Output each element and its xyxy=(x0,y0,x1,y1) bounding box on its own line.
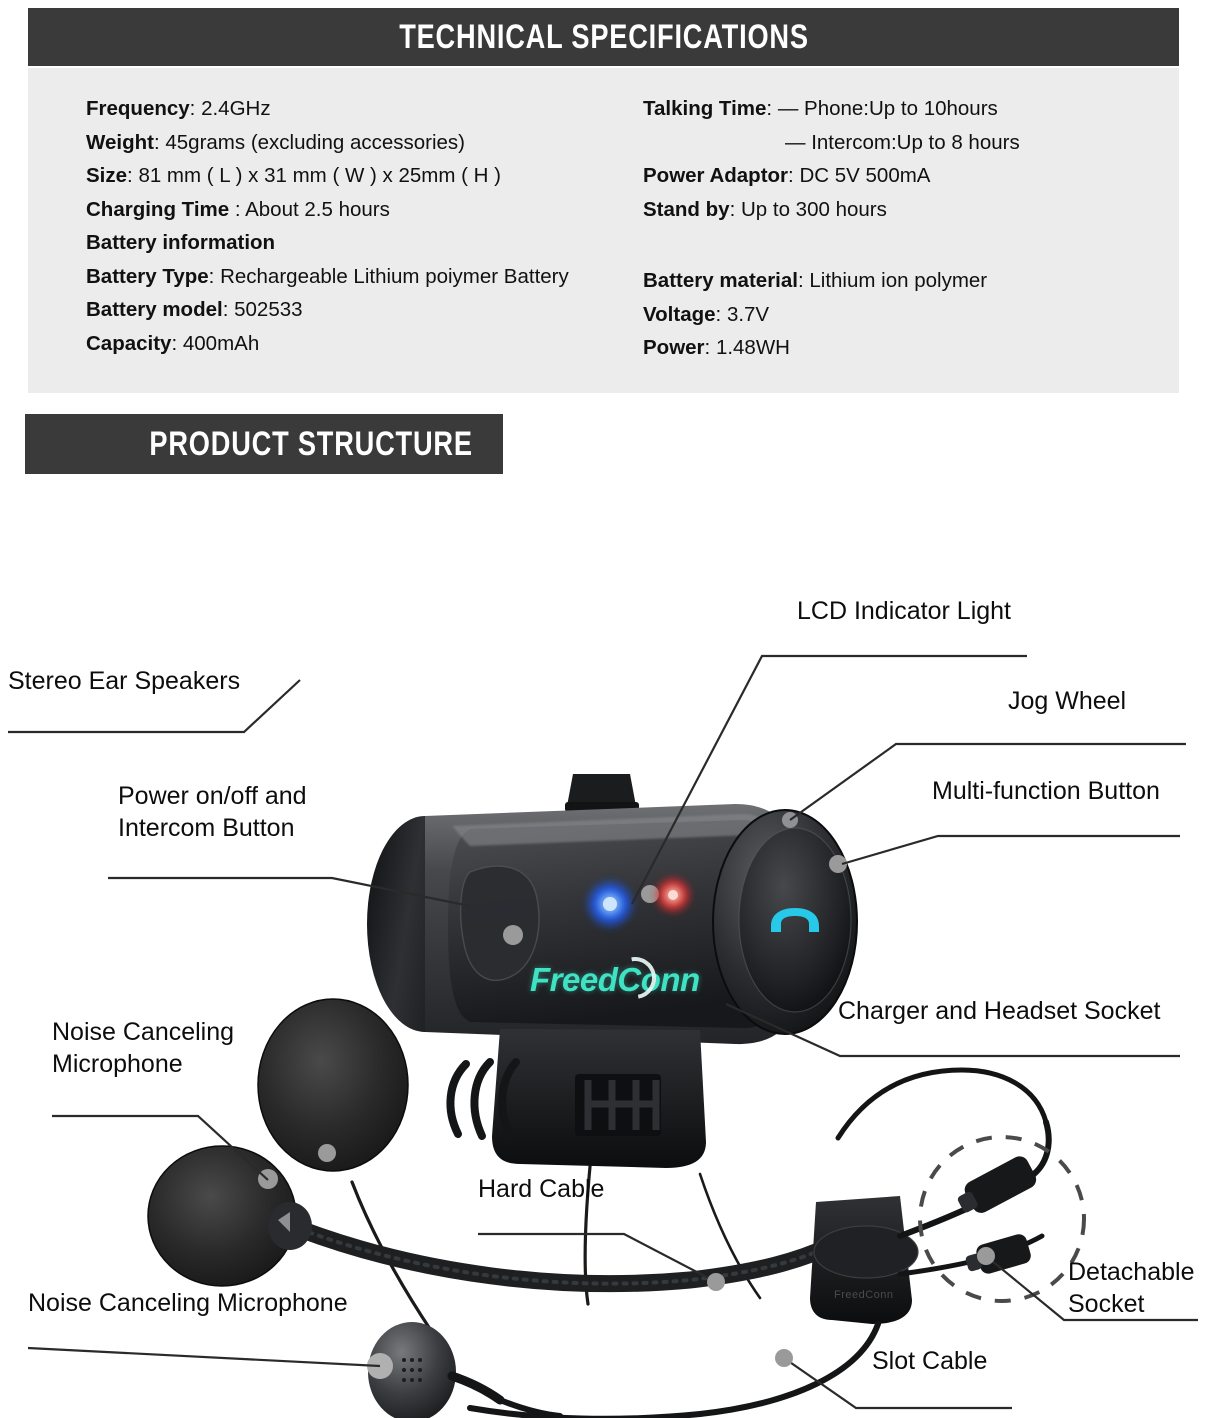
slot-cable xyxy=(470,1324,878,1418)
spec-row: Stand by: Up to 300 hours xyxy=(643,193,1163,227)
spec-row: Capacity: 400mAh xyxy=(86,327,646,361)
spec-row: Voltage: 3.7V xyxy=(643,298,1163,332)
callout-text: Stereo Ear Speakers xyxy=(8,667,240,695)
spec-key: Battery material xyxy=(643,269,798,292)
spec-spacer xyxy=(643,245,1163,264)
spec-key: Weight xyxy=(86,131,154,154)
spec-row: Charging Time : About 2.5 hours xyxy=(86,193,646,227)
spec-sep: : xyxy=(730,198,741,221)
spec-row-continuation: — Intercom:Up to 8 hours xyxy=(643,126,1163,160)
spec-key: Power xyxy=(643,336,705,359)
spec-key: Stand by xyxy=(643,198,730,221)
spec-key: Battery model xyxy=(86,298,223,321)
specifications-panel: Frequency: 2.4GHz Weight: 45grams (exclu… xyxy=(28,68,1179,393)
spec-value: Up to 300 hours xyxy=(741,198,887,221)
callout-noise-canceling-microphone-2: Noise Canceling Microphone xyxy=(28,1288,348,1319)
spec-sep: : xyxy=(716,303,727,326)
spec-value: 400mAh xyxy=(183,332,259,355)
spec-key: Charging Time xyxy=(86,198,229,221)
spec-sep: : xyxy=(229,198,245,221)
spec-row: Weight: 45grams (excluding accessories) xyxy=(86,126,646,160)
callout-text: Jog Wheel xyxy=(1008,687,1126,715)
jog-wheel xyxy=(713,810,857,1034)
specs-left-column: Frequency: 2.4GHz Weight: 45grams (exclu… xyxy=(86,92,646,360)
spec-sep: : xyxy=(223,298,234,321)
callout-text: Charger and Headset Socket xyxy=(838,997,1160,1025)
spec-key: Battery information xyxy=(86,231,275,254)
spec-row: Battery material: Lithium ion polymer xyxy=(643,264,1163,298)
callout-detachable-socket: Detachable Socket xyxy=(1068,1256,1194,1320)
spec-row: Size: 81 mm ( L ) x 31 mm ( W ) x 25mm (… xyxy=(86,159,646,193)
callout-multi-function-button: Multi-function Button xyxy=(932,776,1160,807)
spec-value: DC 5V 500mA xyxy=(799,164,930,187)
spec-key: Power Adaptor xyxy=(643,164,788,187)
spec-row: Power Adaptor: DC 5V 500mA xyxy=(643,159,1163,193)
callout-text: LCD Indicator Light xyxy=(797,597,1011,625)
spec-value: Rechargeable Lithium poiymer Battery xyxy=(220,265,569,288)
spec-row: Power: 1.48WH xyxy=(643,331,1163,365)
spec-row: Battery Type: Rechargeable Lithium poiym… xyxy=(86,260,646,294)
spec-key: Size xyxy=(86,164,127,187)
spec-value: 81 mm ( L ) x 31 mm ( W ) x 25mm ( H ) xyxy=(138,164,501,187)
spec-sep: : xyxy=(788,164,799,187)
spec-value: — Phone:Up to 10hours xyxy=(778,97,998,120)
spec-value: 2.4GHz xyxy=(201,97,271,120)
ear-speaker-left xyxy=(258,999,408,1171)
spec-sep: : xyxy=(209,265,220,288)
spec-value: 3.7V xyxy=(727,303,769,326)
product-structure-title: PRODUCT STRUCTURE xyxy=(149,425,472,464)
microphone-assembly xyxy=(148,1146,830,1286)
callout-text-line1: Detachable xyxy=(1068,1258,1194,1286)
callout-jog-wheel: Jog Wheel xyxy=(1008,686,1126,717)
spec-sep: : xyxy=(154,131,165,154)
detachable-connectors xyxy=(953,1153,1040,1279)
leader-multi-function-button xyxy=(842,836,1180,864)
callout-text-line2: Intercom Button xyxy=(118,814,294,842)
spec-row: Frequency: 2.4GHz xyxy=(86,92,646,126)
spec-key: Talking Time xyxy=(643,97,766,120)
leader-noise-canceling-mic-2 xyxy=(28,1348,380,1366)
technical-specifications-title: TECHNICAL SPECIFICATIONS xyxy=(399,18,809,57)
spec-key: Capacity xyxy=(86,332,171,355)
spec-row: Talking Time: — Phone:Up to 10hours xyxy=(643,92,1163,126)
product-structure-banner: PRODUCT STRUCTURE xyxy=(25,414,503,474)
top-clip xyxy=(567,774,636,806)
callout-stereo-ear-speakers: Stereo Ear Speakers xyxy=(8,666,240,697)
spec-row-heading: Battery information xyxy=(86,226,646,260)
spec-sep: : xyxy=(171,332,182,355)
spec-sep: : xyxy=(766,97,777,120)
callout-text-line2: Socket xyxy=(1068,1290,1144,1318)
callout-hard-cable: Hard Cable xyxy=(478,1174,604,1205)
callout-noise-canceling-microphone: Noise Canceling Microphone xyxy=(52,1016,234,1080)
callout-slot-cable: Slot Cable xyxy=(872,1346,987,1377)
specs-right-column: Talking Time: — Phone:Up to 10hours — In… xyxy=(643,92,1163,365)
spec-value: 502533 xyxy=(234,298,302,321)
spec-sep: : xyxy=(705,336,716,359)
callout-text-line1: Power on/off and xyxy=(118,782,307,810)
callout-text-line2: Microphone xyxy=(52,1050,183,1078)
svg-text:FreedConn: FreedConn xyxy=(834,1289,894,1301)
power-intercom-button xyxy=(461,866,539,980)
callout-text: Slot Cable xyxy=(872,1347,987,1375)
callout-text: Noise Canceling Microphone xyxy=(28,1289,348,1317)
spec-sep: : xyxy=(798,269,809,292)
spec-value: Lithium ion polymer xyxy=(809,269,987,292)
noise-canceling-microphone xyxy=(148,1146,312,1286)
callout-power-intercom-button: Power on/off and Intercom Button xyxy=(118,780,307,844)
clip-mount: FreedConn xyxy=(810,1196,918,1324)
callout-text: Hard Cable xyxy=(478,1175,604,1203)
spec-key: Battery Type xyxy=(86,265,209,288)
spec-value: 45grams (excluding accessories) xyxy=(165,131,465,154)
product-structure-diagram: FreedConn xyxy=(0,474,1207,1418)
spec-sep: : xyxy=(190,97,201,120)
earbud-microphone xyxy=(367,1322,560,1418)
spec-value: About 2.5 hours xyxy=(245,198,390,221)
spec-value: — Intercom:Up to 8 hours xyxy=(785,131,1020,154)
technical-specifications-banner: TECHNICAL SPECIFICATIONS xyxy=(28,8,1179,66)
spec-value: 1.48WH xyxy=(716,336,790,359)
spec-sep: : xyxy=(127,164,138,187)
spec-row: Battery model: 502533 xyxy=(86,293,646,327)
callout-charger-headset-socket: Charger and Headset Socket xyxy=(838,996,1160,1027)
callout-text: Multi-function Button xyxy=(932,777,1160,805)
spec-spacer xyxy=(643,226,1163,245)
helmet-clamp xyxy=(450,1029,706,1168)
spec-key: Frequency xyxy=(86,97,190,120)
callout-lcd-indicator-light: LCD Indicator Light xyxy=(797,596,1011,627)
spec-key: Voltage xyxy=(643,303,716,326)
callout-text-line1: Noise Canceling xyxy=(52,1018,234,1046)
